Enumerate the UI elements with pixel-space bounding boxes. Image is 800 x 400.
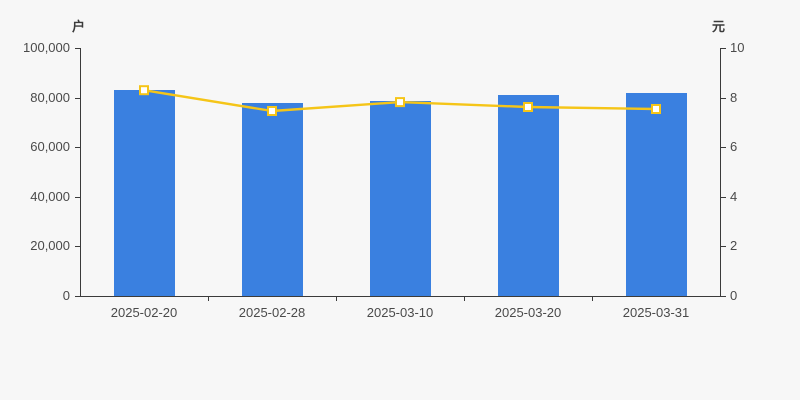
right-axis-tick-mark	[721, 147, 726, 148]
right-axis-tick-mark	[721, 197, 726, 198]
right-axis-tick-mark	[721, 48, 726, 49]
x-axis-tick-mark	[464, 296, 465, 301]
bar[interactable]	[370, 101, 431, 296]
right-axis-tick-label: 0	[730, 289, 737, 302]
right-axis-tick-label: 2	[730, 239, 737, 252]
x-axis-tick-label: 2025-02-28	[239, 306, 306, 319]
left-y-axis-line	[80, 48, 81, 297]
left-axis-tick-label: 0	[63, 289, 70, 302]
x-axis-tick-mark	[592, 296, 593, 301]
x-axis-line	[80, 296, 721, 297]
x-axis-tick-mark	[336, 296, 337, 301]
bar[interactable]	[242, 103, 303, 296]
bar[interactable]	[626, 93, 687, 296]
left-axis-tick-mark	[75, 147, 80, 148]
x-axis-tick-label: 2025-02-20	[111, 306, 178, 319]
bar[interactable]	[498, 95, 559, 296]
left-axis-tick-mark	[75, 246, 80, 247]
left-axis-tick-mark	[75, 98, 80, 99]
x-axis-tick-label: 2025-03-20	[495, 306, 562, 319]
right-axis-tick-label: 8	[730, 91, 737, 104]
right-y-axis-line	[720, 48, 721, 297]
bar[interactable]	[114, 90, 175, 296]
x-axis-tick-mark	[208, 296, 209, 301]
left-axis-tick-label: 100,000	[23, 41, 70, 54]
left-axis-tick-mark	[75, 296, 80, 297]
left-axis-tick-mark	[75, 48, 80, 49]
x-axis-tick-label: 2025-03-31	[623, 306, 690, 319]
right-axis-tick-mark	[721, 246, 726, 247]
right-axis-tick-label: 10	[730, 41, 744, 54]
left-axis-tick-label: 60,000	[30, 140, 70, 153]
right-axis-tick-mark	[721, 296, 726, 297]
right-axis-tick-label: 6	[730, 140, 737, 153]
right-axis-tick-mark	[721, 98, 726, 99]
left-axis-unit-label: 户	[72, 20, 85, 33]
left-axis-tick-label: 40,000	[30, 190, 70, 203]
left-axis-tick-label: 80,000	[30, 91, 70, 104]
right-axis-unit-label: 元	[712, 20, 725, 33]
right-axis-tick-label: 4	[730, 190, 737, 203]
chart-container: 户 元 020,00040,00060,00080,000100,000 024…	[0, 0, 800, 400]
left-axis-tick-label: 20,000	[30, 239, 70, 252]
left-axis-tick-mark	[75, 197, 80, 198]
x-axis-tick-label: 2025-03-10	[367, 306, 434, 319]
